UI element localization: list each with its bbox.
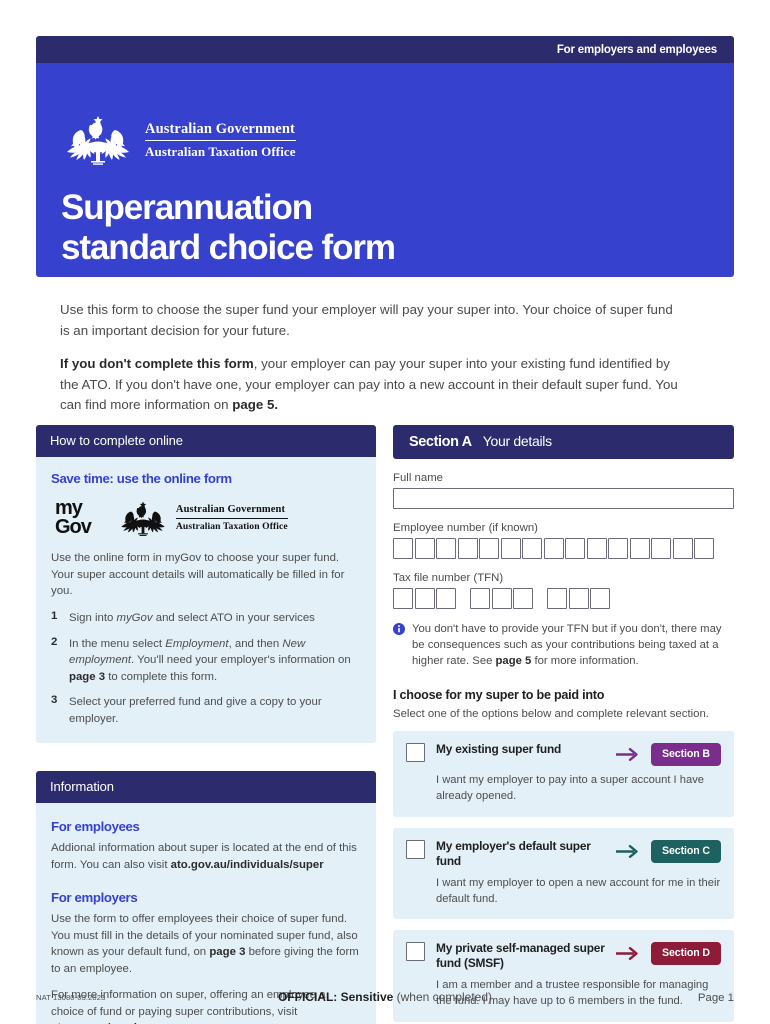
tfn-note: You don't have to provide your TFN but i… bbox=[393, 621, 734, 669]
step-number: 1 bbox=[51, 610, 60, 627]
tfn-cell[interactable] bbox=[415, 588, 435, 609]
government-wordmark: Australian Government Australian Taxatio… bbox=[145, 121, 296, 160]
commonwealth-coat-of-arms-icon bbox=[61, 114, 135, 166]
intro-bold-lead: If you don't complete this form bbox=[60, 356, 254, 371]
option-c-description: I want my employer to open a new account… bbox=[436, 876, 721, 908]
online-panel-body: Save time: use the online form my Gov bbox=[36, 457, 376, 743]
option-d-checkbox[interactable] bbox=[406, 942, 425, 961]
employee-number-cell[interactable] bbox=[501, 538, 521, 559]
info-icon bbox=[393, 623, 405, 635]
audience-tag: For employers and employees bbox=[557, 44, 717, 56]
tfn-note-page-reference: page 5 bbox=[496, 655, 532, 667]
section-a-header: Section A Your details bbox=[393, 425, 734, 459]
employee-number-cell[interactable] bbox=[415, 538, 435, 559]
employee-number-boxes[interactable] bbox=[393, 538, 734, 559]
employee-number-label: Employee number (if known) bbox=[393, 522, 734, 534]
tfn-note-b: for more information. bbox=[531, 655, 638, 667]
government-branding: Australian Government Australian Taxatio… bbox=[61, 114, 296, 166]
section-d-badge[interactable]: Section D bbox=[651, 942, 721, 965]
option-b-top-row: My existing super fund Section B bbox=[406, 742, 721, 766]
online-panel-subheading: Save time: use the online form bbox=[51, 471, 361, 486]
option-c-title: My employer's default super fund bbox=[436, 839, 616, 869]
ato-australian-government-text: Australian Government bbox=[176, 504, 288, 515]
full-name-label: Full name bbox=[393, 472, 734, 484]
option-b-checkbox[interactable] bbox=[406, 743, 425, 762]
arrow-right-icon bbox=[616, 946, 640, 961]
for-employees-heading: For employees bbox=[51, 819, 361, 834]
list-item: 1 Sign into myGov and select ATO in your… bbox=[51, 610, 361, 627]
option-employer-default-fund[interactable]: My employer's default super fund Section… bbox=[393, 828, 734, 920]
list-item: 2 In the menu select Employment, and the… bbox=[51, 636, 361, 686]
classification-qualifier: (when completed) bbox=[393, 990, 492, 1004]
online-panel-description: Use the online form in myGov to choose y… bbox=[51, 550, 361, 600]
option-d-badge-group: Section D bbox=[616, 941, 721, 965]
tax-file-number-field: Tax file number (TFN) bbox=[393, 572, 734, 609]
tfn-group-gap bbox=[458, 588, 469, 609]
for-employers-heading: For employers bbox=[51, 890, 361, 905]
option-existing-super-fund[interactable]: My existing super fund Section B I want … bbox=[393, 731, 734, 817]
list-item: 3 Select your preferred fund and give a … bbox=[51, 694, 361, 727]
option-d-top-row: My private self-managed super fund (SMSF… bbox=[406, 941, 721, 971]
intro-paragraph-1: Use this form to choose the super fund y… bbox=[60, 300, 685, 341]
step-1-post: and select ATO in your services bbox=[153, 612, 315, 624]
step-2-pre: In the menu select bbox=[69, 638, 165, 650]
arrow-right-icon bbox=[616, 747, 640, 762]
mygov-logo: my Gov bbox=[55, 499, 91, 537]
option-c-badge-group: Section C bbox=[616, 839, 721, 863]
employee-number-cell[interactable] bbox=[673, 538, 693, 559]
employee-number-cell[interactable] bbox=[587, 538, 607, 559]
step-number: 3 bbox=[51, 694, 60, 727]
ato-australian-taxation-office-text: Australian Taxation Office bbox=[176, 521, 288, 532]
employee-number-cell[interactable] bbox=[651, 538, 671, 559]
page-number: Page 1 bbox=[698, 992, 734, 1004]
employee-number-cell[interactable] bbox=[694, 538, 714, 559]
page-footer: NAT 13080-03.2023 OFFICIAL: Sensitive (w… bbox=[36, 990, 734, 1010]
tfn-cell[interactable] bbox=[513, 588, 533, 609]
ato-wordmark-divider bbox=[176, 518, 288, 519]
option-c-top-row: My employer's default super fund Section… bbox=[406, 839, 721, 869]
intro-page-reference: page 5. bbox=[232, 397, 278, 412]
employee-number-field: Employee number (if known) bbox=[393, 522, 734, 559]
step-1-pre: Sign into bbox=[69, 612, 117, 624]
wordmark-divider bbox=[145, 140, 296, 141]
how-to-complete-online-panel: How to complete online Save time: use th… bbox=[36, 425, 376, 743]
choose-heading: I choose for my super to be paid into bbox=[393, 688, 734, 702]
tfn-group-gap bbox=[535, 588, 546, 609]
commonwealth-coat-of-arms-icon bbox=[117, 500, 169, 537]
form-page: For employers and employees bbox=[0, 0, 770, 1024]
online-steps-list: 1 Sign into myGov and select ATO in your… bbox=[51, 610, 361, 727]
option-b-title: My existing super fund bbox=[436, 742, 561, 757]
employee-number-cell[interactable] bbox=[522, 538, 542, 559]
information-panel: Information For employees Addional infor… bbox=[36, 771, 376, 1024]
intro-paragraph-2: If you don't complete this form, your em… bbox=[60, 354, 685, 416]
tax-file-number-boxes[interactable] bbox=[393, 588, 734, 609]
employee-number-cell[interactable] bbox=[608, 538, 628, 559]
section-a-label: Section A bbox=[409, 434, 472, 450]
employee-number-cell[interactable] bbox=[458, 538, 478, 559]
for-employees-text: Addional information about super is loca… bbox=[51, 840, 361, 873]
step-text: Select your preferred fund and give a co… bbox=[69, 694, 361, 727]
for-employees-block: For employees Addional information about… bbox=[51, 819, 361, 873]
step-2-mid: , and then bbox=[229, 638, 283, 650]
tfn-cell[interactable] bbox=[470, 588, 490, 609]
ato-logo: Australian Government Australian Taxatio… bbox=[117, 500, 288, 537]
online-panel-heading: How to complete online bbox=[36, 425, 376, 457]
choose-subtext: Select one of the options below and comp… bbox=[393, 708, 734, 720]
masthead: For employers and employees bbox=[36, 36, 734, 277]
right-column: Section A Your details Full name Employe… bbox=[393, 425, 734, 1022]
tfn-cell[interactable] bbox=[590, 588, 610, 609]
step-text: In the menu select Employment, and then … bbox=[69, 636, 361, 686]
tfn-cell[interactable] bbox=[492, 588, 512, 609]
step-2-post: . You'll need your employer's informatio… bbox=[131, 654, 351, 666]
for-employers-paragraph-1: Use the form to offer employees their ch… bbox=[51, 911, 361, 977]
section-b-badge[interactable]: Section B bbox=[651, 743, 721, 766]
australian-government-text: Australian Government bbox=[145, 121, 296, 138]
tfn-cell[interactable] bbox=[436, 588, 456, 609]
mygov-logo-line-2: Gov bbox=[55, 518, 91, 537]
classification-marking: OFFICIAL: Sensitive (when completed) bbox=[36, 990, 734, 1004]
arrow-right-icon bbox=[616, 844, 640, 859]
step-1-emphasis: myGov bbox=[117, 612, 153, 624]
employee-number-cell[interactable] bbox=[565, 538, 585, 559]
full-name-field: Full name bbox=[393, 472, 734, 509]
full-name-input[interactable] bbox=[393, 488, 734, 509]
employee-number-cell[interactable] bbox=[436, 538, 456, 559]
option-d-title: My private self-managed super fund (SMSF… bbox=[436, 941, 616, 971]
information-panel-heading: Information bbox=[36, 771, 376, 803]
employee-number-cell[interactable] bbox=[544, 538, 564, 559]
employee-number-cell[interactable] bbox=[479, 538, 499, 559]
for-employers-page-reference: page 3 bbox=[209, 946, 245, 958]
employee-number-cell[interactable] bbox=[630, 538, 650, 559]
tfn-cell[interactable] bbox=[547, 588, 567, 609]
intro-text: Use this form to choose the super fund y… bbox=[60, 300, 685, 416]
classification-label: OFFICIAL: Sensitive bbox=[278, 990, 393, 1004]
step-2-tail: to complete this form. bbox=[105, 671, 217, 683]
option-b-description: I want my employer to pay into a super a… bbox=[436, 773, 721, 805]
tfn-note-text: You don't have to provide your TFN but i… bbox=[412, 621, 734, 669]
masthead-audience-bar: For employers and employees bbox=[36, 36, 734, 63]
tfn-cell[interactable] bbox=[393, 588, 413, 609]
section-a-title: Your details bbox=[483, 433, 552, 449]
step-number: 2 bbox=[51, 636, 60, 686]
step-text: Sign into myGov and select ATO in your s… bbox=[69, 610, 315, 627]
employee-number-cell[interactable] bbox=[393, 538, 413, 559]
step-2-page-reference: page 3 bbox=[69, 671, 105, 683]
logo-row: my Gov bbox=[55, 499, 361, 537]
page-title-line-2: standard choice form bbox=[61, 228, 395, 268]
page-title: Superannuation standard choice form bbox=[61, 188, 395, 267]
individuals-super-link[interactable]: ato.gov.au/individuals/super bbox=[171, 859, 324, 871]
option-c-checkbox[interactable] bbox=[406, 840, 425, 859]
option-b-badge-group: Section B bbox=[616, 742, 721, 766]
australian-taxation-office-text: Australian Taxation Office bbox=[145, 144, 296, 160]
left-column: How to complete online Save time: use th… bbox=[36, 425, 376, 1024]
masthead-body: Australian Government Australian Taxatio… bbox=[36, 63, 734, 277]
tax-file-number-label: Tax file number (TFN) bbox=[393, 572, 734, 584]
tfn-cell[interactable] bbox=[569, 588, 589, 609]
section-c-badge[interactable]: Section C bbox=[651, 840, 721, 863]
step-2-emphasis-1: Employment bbox=[165, 638, 228, 650]
ato-wordmark: Australian Government Australian Taxatio… bbox=[176, 504, 288, 532]
page-title-line-1: Superannuation bbox=[61, 188, 395, 228]
